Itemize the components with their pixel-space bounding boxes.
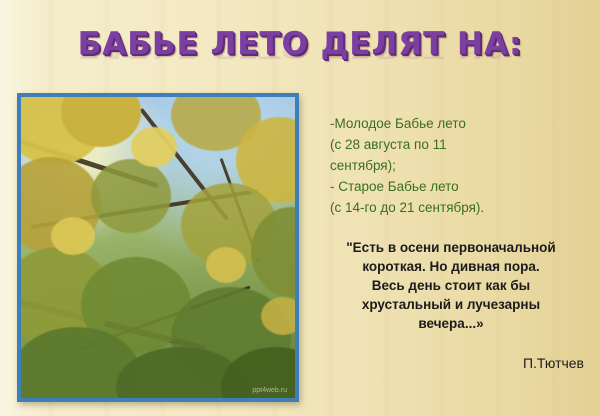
autumn-maple-canopy-photo: ppt4web.ru xyxy=(21,97,295,398)
poem-line-5: вечера...» xyxy=(312,314,590,333)
foliage-blob xyxy=(51,217,95,255)
autumn-photo-frame: ppt4web.ru xyxy=(17,93,299,402)
foliage-blob xyxy=(131,127,177,167)
definition-line-2: (с 28 августа по 11 xyxy=(330,134,580,155)
poem-block: "Есть в осени первоначальной короткая. Н… xyxy=(312,238,590,333)
foliage-blob xyxy=(91,159,171,233)
slide: Бабье лето делят на: Бабье лето делят на… xyxy=(0,0,600,416)
foliage-blob xyxy=(206,247,246,283)
definition-line-4: - Старое Бабье лето xyxy=(330,176,580,197)
poem-line-3: Весь день стоит как бы xyxy=(312,276,590,295)
definition-line-3: сентября); xyxy=(330,155,580,176)
poem-line-1: "Есть в осени первоначальной xyxy=(312,238,590,257)
slide-title: Бабье лето делят на: xyxy=(0,26,600,62)
poem-line-4: хрустальный и лучезарны xyxy=(312,295,590,314)
poem-line-2: короткая. Но дивная пора. xyxy=(312,257,590,276)
definitions-block: -Молодое Бабье лето (с 28 августа по 11 … xyxy=(330,113,580,218)
definition-line-5: (с 14-го до 21 сентября). xyxy=(330,197,580,218)
poem-author: П.Тютчев xyxy=(312,355,584,371)
definition-line-1: -Молодое Бабье лето xyxy=(330,113,580,134)
photo-watermark: ppt4web.ru xyxy=(252,387,287,394)
